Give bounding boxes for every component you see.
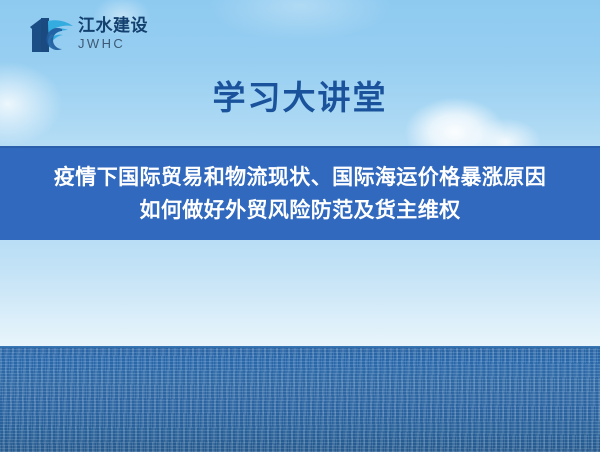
logo-wordmark: 江水建设 JWHC [78, 16, 178, 56]
sky-lower-clouds [0, 240, 600, 346]
horizon-line [0, 346, 600, 348]
poster-canvas: 江水建设 JWHC 学习大讲堂 疫情下国际贸易和物流现状、国际海运价格暴涨原因 … [0, 0, 600, 452]
page-title: 学习大讲堂 [0, 78, 600, 118]
company-logo[interactable]: 江水建设 JWHC [28, 14, 178, 58]
banner-line-1: 疫情下国际贸易和物流现状、国际海运价格暴涨原因 [54, 161, 546, 194]
logo-company-name-cn: 江水建设 [78, 16, 178, 36]
logo-company-name-en: JWHC [78, 36, 178, 51]
banner-line-2: 如何做好外贸风险防范及货主维权 [140, 194, 461, 227]
jwhc-wave-monogram-icon [28, 15, 74, 55]
subject-banner: 疫情下国际贸易和物流现状、国际海运价格暴涨原因 如何做好外贸风险防范及货主维权 [0, 146, 600, 240]
ocean-surface [0, 346, 600, 452]
